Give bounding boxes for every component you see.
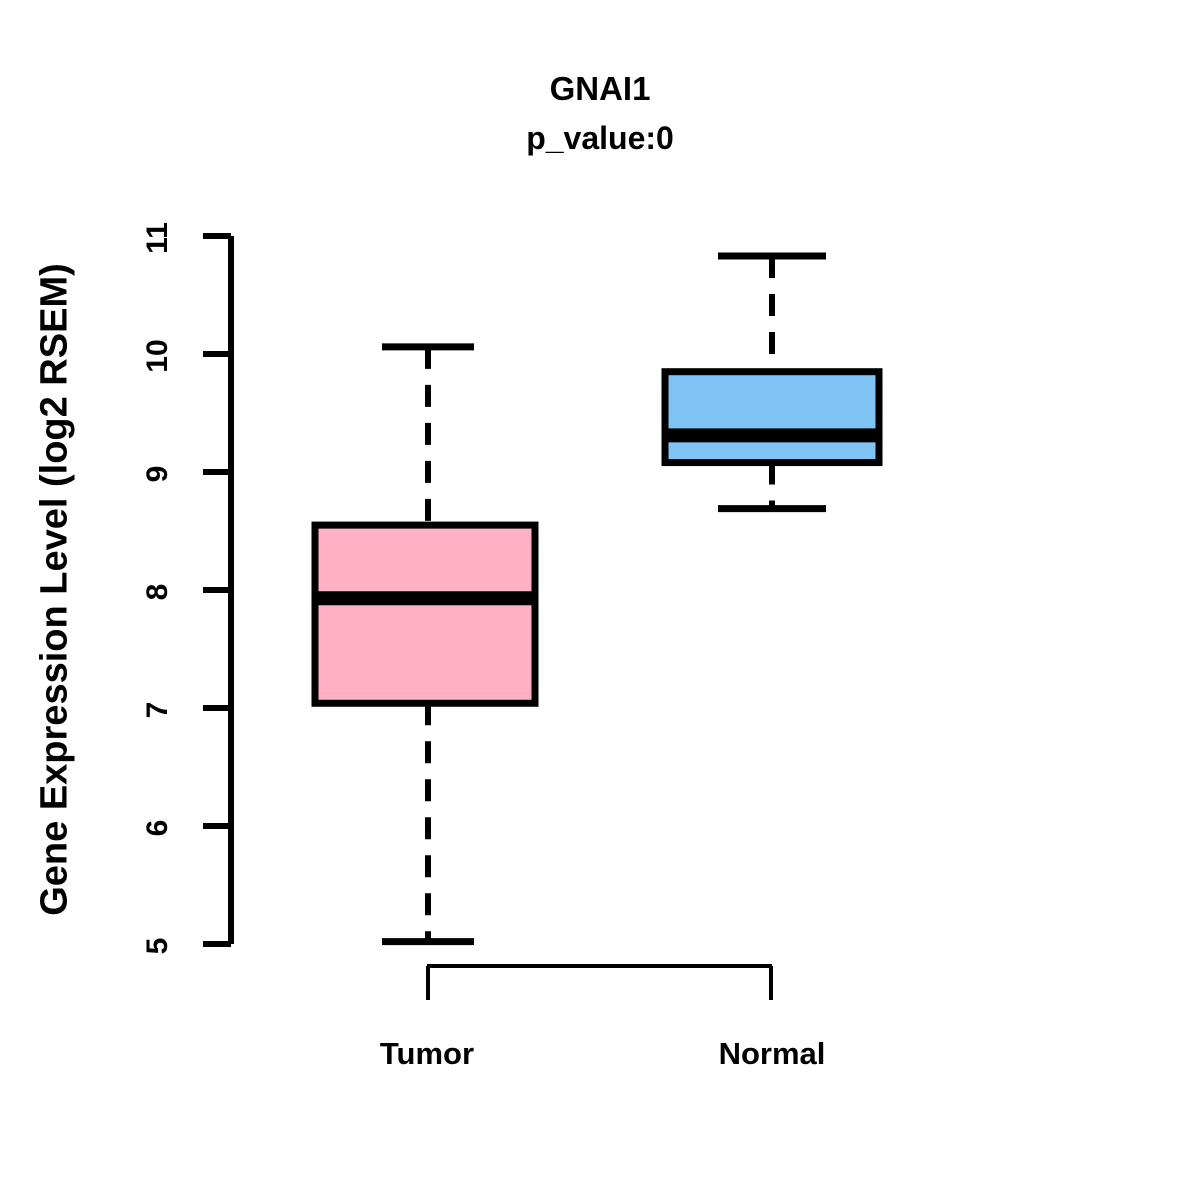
boxplot-tumor[interactable] bbox=[315, 347, 535, 942]
normal-box-rect[interactable] bbox=[665, 372, 879, 463]
x-axis bbox=[427, 966, 772, 1000]
plot-canvas bbox=[0, 0, 1200, 1200]
boxplot-figure: GNAI1 p_value:0 Gene Expression Level (l… bbox=[0, 0, 1200, 1200]
tumor-box-rect[interactable] bbox=[315, 525, 535, 703]
boxplot-normal[interactable] bbox=[665, 256, 879, 509]
y-axis bbox=[203, 236, 231, 944]
